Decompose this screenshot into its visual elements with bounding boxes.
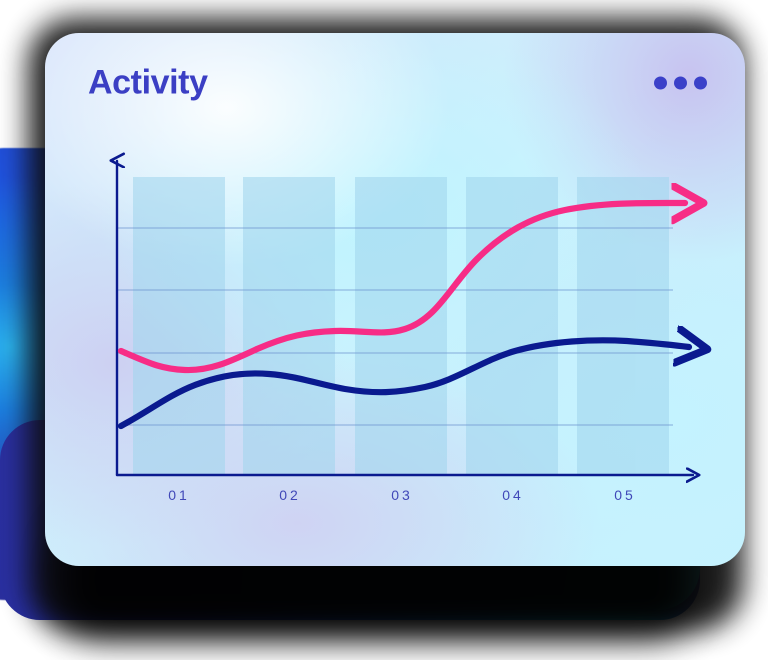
chart-svg: 01 02 03 04 05 xyxy=(45,33,745,566)
screenshot-root: Activity xyxy=(0,0,768,660)
chart-bar-band xyxy=(466,177,558,475)
chart-background-bars xyxy=(133,177,669,475)
activity-chart: 01 02 03 04 05 xyxy=(45,33,745,566)
chart-bar-band xyxy=(133,177,225,475)
x-tick-label: 01 xyxy=(168,487,190,503)
x-tick-label: 04 xyxy=(502,487,524,503)
chart-x-tick-labels: 01 02 03 04 05 xyxy=(168,487,636,503)
x-tick-label: 05 xyxy=(614,487,636,503)
activity-card: Activity xyxy=(45,33,745,566)
chart-bar-band xyxy=(355,177,447,475)
x-tick-label: 03 xyxy=(391,487,413,503)
chart-bar-band xyxy=(577,177,669,475)
x-tick-label: 02 xyxy=(279,487,301,503)
chart-bar-band xyxy=(243,177,335,475)
